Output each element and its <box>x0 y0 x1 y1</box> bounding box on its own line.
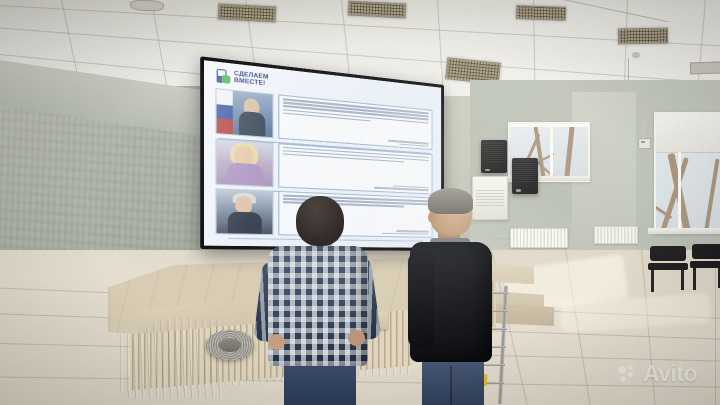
ceiling-vent <box>690 61 720 74</box>
person-head <box>296 196 344 246</box>
louvered-light-panel <box>516 5 566 21</box>
louvered-light-panel <box>618 28 668 45</box>
window-sill-right <box>648 228 720 234</box>
window-right <box>654 112 720 234</box>
person-jeans <box>422 356 484 405</box>
slide-paragraph <box>283 146 429 166</box>
person-hair <box>428 188 473 214</box>
cable-coil <box>206 330 254 360</box>
radiator-right <box>594 226 638 244</box>
louvered-light-panel <box>218 3 277 22</box>
portrait-body <box>228 212 262 235</box>
avito-dots-icon <box>618 365 638 383</box>
sdelaem-vmeste-logo-icon <box>217 69 232 85</box>
pa-speaker-lower <box>512 158 538 194</box>
speaker-badge <box>485 169 490 171</box>
stacked-chairs <box>648 246 688 292</box>
portrait-body <box>227 162 263 187</box>
person-ear <box>428 212 436 223</box>
wall-cable <box>643 118 644 140</box>
smoke-detector-icon <box>632 52 640 57</box>
window-mullion <box>678 152 681 232</box>
cable-coil-inner <box>219 338 241 352</box>
window-mullion <box>550 124 553 180</box>
person-arm <box>408 252 434 348</box>
avito-watermark: Avito <box>618 362 697 385</box>
stacked-chairs <box>690 244 720 290</box>
person-young-man <box>262 196 374 405</box>
person-jeans-seam <box>450 366 452 405</box>
window-frame-top <box>510 124 588 127</box>
slide-logo-text: СДЕЛАЕМ ВМЕСТЕ! <box>234 72 269 87</box>
person-hand-left <box>268 334 285 350</box>
portrait-speaker-podium <box>215 88 273 138</box>
slide-attribution <box>283 180 429 191</box>
photo-scene: СДЕЛАЕМ ВМЕСТЕ! <box>0 0 720 405</box>
person-hand-right <box>348 330 365 346</box>
wall-far-corner <box>572 92 636 272</box>
person-older-man <box>408 190 498 405</box>
avito-wordmark: Avito <box>643 362 697 385</box>
pa-speaker-upper <box>481 140 507 173</box>
window-roller-blind[interactable] <box>656 114 720 153</box>
wall-outlet <box>638 138 651 149</box>
portrait-head <box>235 196 252 214</box>
person-plaid-shirt <box>268 246 368 366</box>
portrait-body <box>239 111 265 138</box>
slide-textbox <box>278 143 432 194</box>
louvered-light-panel <box>348 0 407 18</box>
radiator-center <box>510 228 568 248</box>
portrait-woman-official <box>215 138 273 187</box>
speaker-badge <box>516 189 521 192</box>
russian-flag-icon <box>217 89 233 134</box>
